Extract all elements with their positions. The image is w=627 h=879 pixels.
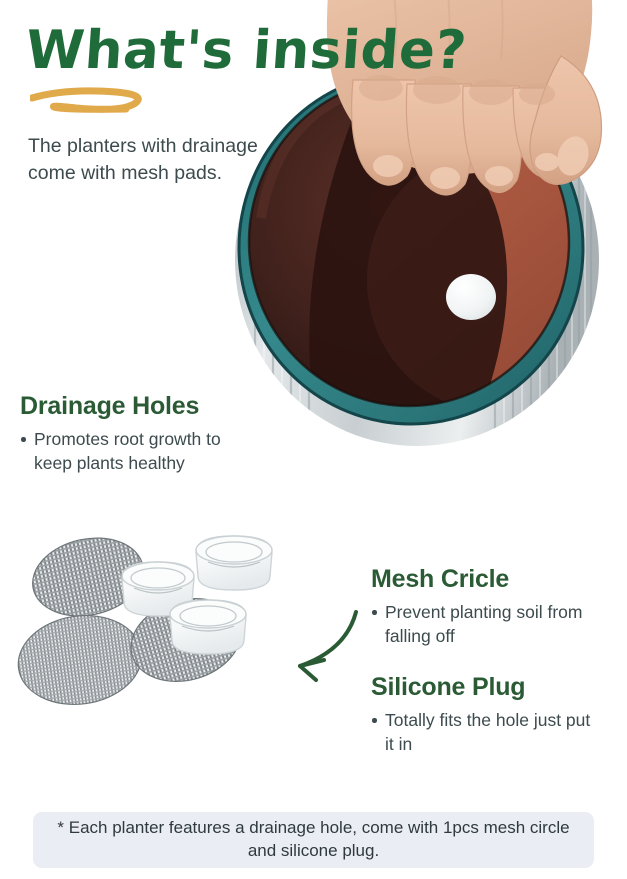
infographic-page: What's inside? The planters with drainag… bbox=[0, 0, 627, 879]
bullet-list-mesh-circle: Prevent planting soil from falling off bbox=[371, 601, 586, 649]
bullet-list-silicone-plug: Totally fits the hole just put it in bbox=[371, 709, 596, 757]
bullet-item: Prevent planting soil from falling off bbox=[371, 601, 586, 649]
footer-note-text: * Each planter features a drainage hole,… bbox=[55, 817, 572, 863]
silicone-plug bbox=[170, 600, 246, 654]
silicone-plug bbox=[196, 536, 272, 590]
section-heading-mesh-circle: Mesh Cricle bbox=[371, 565, 509, 594]
footer-note-banner: * Each planter features a drainage hole,… bbox=[33, 812, 594, 868]
bullet-item: Totally fits the hole just put it in bbox=[371, 709, 596, 757]
section-heading-silicone-plug: Silicone Plug bbox=[371, 673, 525, 702]
title-underline-swash bbox=[30, 86, 156, 114]
title-block: What's inside? bbox=[26, 24, 366, 77]
section-heading-drainage-holes: Drainage Holes bbox=[20, 392, 199, 421]
page-title: What's inside? bbox=[24, 24, 368, 77]
pointer-arrow-icon bbox=[248, 604, 368, 684]
